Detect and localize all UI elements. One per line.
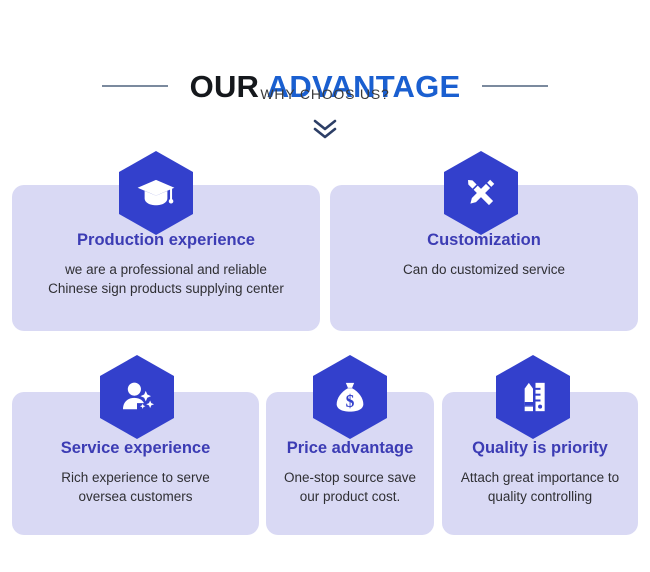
graduation-cap-icon	[135, 172, 177, 214]
pen-pencil-cross-icon	[461, 173, 501, 213]
chevron-double-down-icon	[312, 118, 338, 140]
chevron-double-down-icon-wrap	[0, 118, 650, 140]
advantage-card-title: Quality is priority	[450, 439, 630, 459]
advantage-card-title: Production experience	[20, 231, 312, 251]
advantage-card-desc: Attach great importance to quality contr…	[450, 468, 630, 507]
advantage-card-desc: we are a professional and reliable Chine…	[20, 260, 312, 299]
money-bag-dollar-icon: $	[330, 377, 370, 417]
svg-text:$: $	[346, 391, 355, 411]
advantage-card-desc: One-stop source save our product cost.	[274, 468, 426, 507]
advantage-card-desc: Rich experience to serve oversea custome…	[20, 468, 251, 507]
advantage-card-title: Price advantage	[274, 439, 426, 459]
person-stars-icon	[116, 376, 158, 418]
advantage-card-title: Customization	[338, 231, 630, 251]
page-subtitle: WHY CHOOS US?	[0, 86, 650, 102]
advantage-card-desc: Can do customized service	[338, 260, 630, 280]
pencil-ruler-icon	[513, 377, 553, 417]
advantage-card-title: Service experience	[20, 439, 251, 459]
header-section: OUR ADVANTAGE WHY CHOOS US?	[0, 0, 650, 150]
